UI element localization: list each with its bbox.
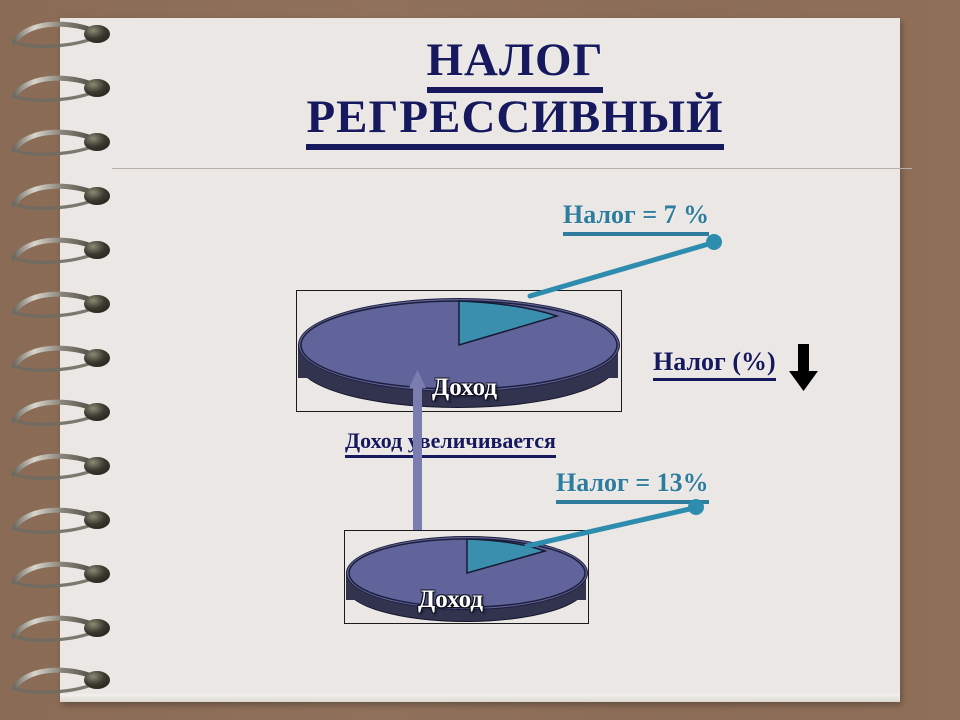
tax-low-label: Налог = 13% [556,468,709,504]
tax-high-label-text: Налог = 7 % [563,200,709,236]
tax-percent-label-text: Налог (%) [653,347,776,381]
title-line-2: РЕГРЕССИВНЫЙ [120,93,910,150]
page-title: НАЛОГ РЕГРЕССИВНЫЙ [120,36,910,150]
tax-low-label-text: Налог = 13% [556,468,709,504]
title-line-1: НАЛОГ [120,36,910,93]
title-line-2-text: РЕГРЕССИВНЫЙ [306,93,723,150]
income-grows-label: Доход увеличивается [345,428,556,458]
title-divider [112,168,912,169]
page-bottom-edge [60,694,900,702]
income-label-top: Доход [432,374,497,402]
slide-canvas: НАЛОГ РЕГРЕССИВНЫЙ Доход Доход [0,0,960,720]
spiral-binding-icon [0,10,130,710]
title-line-1-text: НАЛОГ [427,36,604,93]
income-label-bottom: Доход [418,586,483,614]
tax-high-label: Налог = 7 % [563,200,709,236]
income-grows-label-text: Доход увеличивается [345,428,556,458]
tax-percent-label: Налог (%) [653,347,776,381]
